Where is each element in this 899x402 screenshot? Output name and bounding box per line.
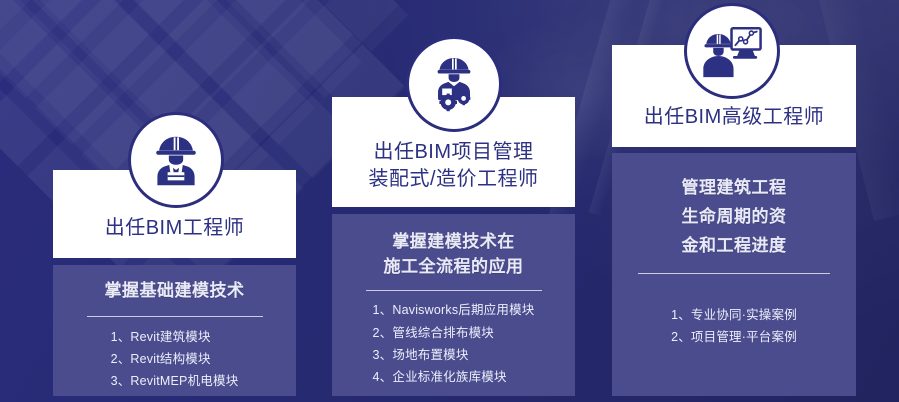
list-item: 2、管线综合排布模块 bbox=[373, 322, 535, 344]
card-headline-2: 掌握建模技术在 施工全流程的应用 bbox=[384, 230, 524, 279]
list-item: 3、场地布置模块 bbox=[373, 344, 535, 366]
worker-with-monitor-chart-icon bbox=[684, 3, 780, 99]
module-list-1: 1、Revit建筑模块 2、Revit结构模块 3、RevitMEP机电模块 bbox=[111, 326, 239, 393]
list-item: 1、专业协同·实操案例 bbox=[671, 304, 797, 326]
card-headline-3-line-3: 金和工程进度 bbox=[682, 231, 787, 260]
card-detail-panel-1: 掌握基础建模技术 1、Revit建筑模块 2、Revit结构模块 3、Revit… bbox=[53, 265, 296, 396]
card-title-1: 出任BIM工程师 bbox=[53, 215, 296, 242]
worker-with-gears-icon bbox=[406, 36, 502, 132]
card-headline-3-line-2: 生命周期的资 bbox=[682, 202, 787, 231]
list-item: 1、Revit建筑模块 bbox=[111, 326, 239, 348]
list-item: 4、企业标准化族库模块 bbox=[373, 366, 535, 388]
card-title-2-line-2: 装配式/造价工程师 bbox=[332, 166, 575, 193]
module-list-3: 1、专业协同·实操案例 2、项目管理·平台案例 bbox=[671, 304, 797, 349]
divider-1 bbox=[87, 316, 263, 317]
card-headline-3: 管理建筑工程 生命周期的资 金和工程进度 bbox=[682, 173, 787, 261]
list-item: 2、项目管理·平台案例 bbox=[671, 326, 797, 348]
card-headline-2-line-2: 施工全流程的应用 bbox=[384, 255, 524, 280]
card-headline-1: 掌握基础建模技术 bbox=[105, 279, 245, 304]
divider-2 bbox=[366, 290, 542, 291]
construction-worker-icon bbox=[128, 112, 224, 208]
list-item: 3、RevitMEP机电模块 bbox=[111, 370, 239, 392]
card-headline-3-line-1: 管理建筑工程 bbox=[682, 173, 787, 202]
module-list-2: 1、Navisworks后期应用模块 2、管线综合排布模块 3、场地布置模块 4… bbox=[373, 299, 535, 388]
card-title-2-line-1: 出任BIM项目管理 bbox=[332, 139, 575, 166]
card-title-3: 出任BIM高级工程师 bbox=[612, 104, 856, 131]
card-headline-2-line-1: 掌握建模技术在 bbox=[384, 230, 524, 255]
card-detail-panel-2: 掌握建模技术在 施工全流程的应用 1、Navisworks后期应用模块 2、管线… bbox=[332, 214, 575, 396]
card-detail-panel-3: 管理建筑工程 生命周期的资 金和工程进度 1、专业协同·实操案例 2、项目管理·… bbox=[612, 153, 856, 396]
list-item: 2、Revit结构模块 bbox=[111, 348, 239, 370]
promo-banner: 出任BIM工程师 掌握基础建模技术 1、Revit建筑模块 2、Revit结构模… bbox=[0, 0, 899, 402]
divider-3 bbox=[638, 273, 830, 274]
card-title-2: 出任BIM项目管理 装配式/造价工程师 bbox=[332, 139, 575, 193]
list-item: 1、Navisworks后期应用模块 bbox=[373, 299, 535, 321]
